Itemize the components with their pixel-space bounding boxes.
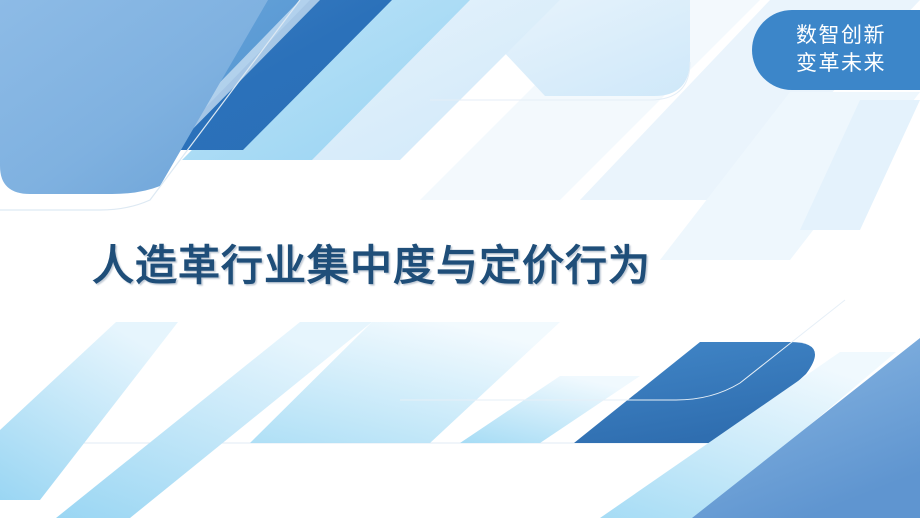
bottom-right-dark-parallelogram [574, 342, 815, 443]
brand-badge: 数智创新 变革未来 [752, 10, 920, 90]
panel-hairline-2 [430, 62, 690, 100]
brand-badge-line-2: 变革未来 [796, 50, 886, 78]
panel-hairline [0, 0, 300, 210]
bottom-middle-pale-wedge [250, 322, 560, 443]
top-left-panel [0, 0, 268, 194]
brand-badge-line-1: 数智创新 [796, 22, 886, 50]
bottom-left-diagonal-stripes [0, 322, 372, 518]
bottom-right-triangle [692, 338, 920, 518]
slide-canvas: 数智创新 变革未来 人造革行业集中度与定价行为 [0, 0, 920, 518]
bottom-right-light-sliver [600, 352, 896, 518]
bottom-right-pale-sliver [460, 376, 640, 443]
top-left-diagonal-stripes [100, 0, 690, 160]
slide-title: 人造革行业集中度与定价行为 [92, 232, 651, 293]
right-mid-faint-stripes [660, 92, 920, 260]
parallelogram-hairline [400, 300, 845, 400]
